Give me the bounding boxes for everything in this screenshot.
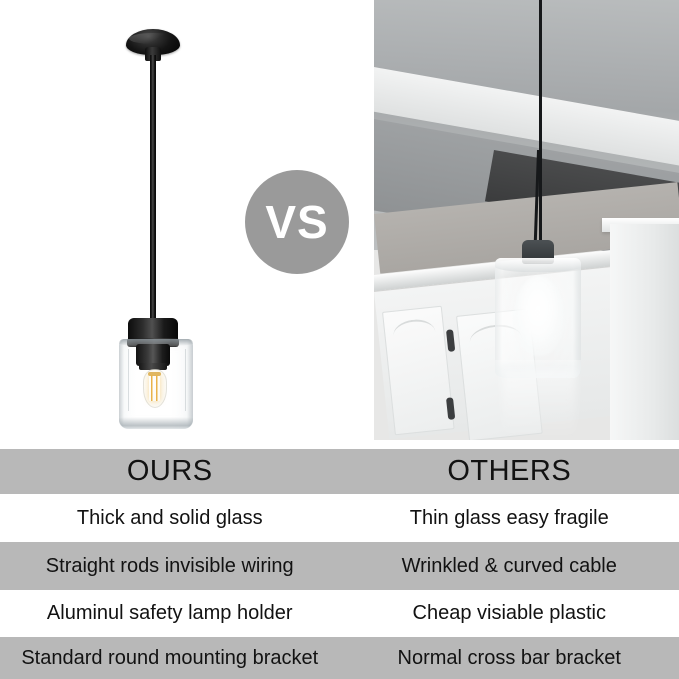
thin-glass-top-rim bbox=[495, 258, 581, 272]
table-row: Straight rods invisible wiring Wrinkled … bbox=[0, 542, 679, 590]
white-pillar bbox=[610, 224, 679, 440]
curved-cable-upper bbox=[539, 0, 542, 240]
shade-bottom-rim bbox=[119, 417, 193, 429]
others-feature-1: Thin glass easy fragile bbox=[340, 507, 679, 529]
straight-rod bbox=[150, 55, 156, 320]
photo-area: VS bbox=[0, 0, 679, 449]
ours-feature-4: Standard round mounting bracket bbox=[0, 647, 340, 669]
ours-feature-1: Thick and solid glass bbox=[0, 507, 340, 529]
table-header-row: OURS OTHERS bbox=[0, 449, 679, 494]
others-feature-4: Normal cross bar bracket bbox=[340, 647, 679, 669]
ours-feature-2: Straight rods invisible wiring bbox=[0, 555, 340, 577]
vs-badge-label: VS bbox=[265, 199, 328, 245]
others-feature-3: Cheap visiable plastic bbox=[340, 602, 679, 624]
comparison-table: OURS OTHERS Thick and solid glass Thin g… bbox=[0, 449, 679, 679]
table-row: Standard round mounting bracket Normal c… bbox=[0, 637, 679, 679]
header-ours: OURS bbox=[0, 455, 340, 487]
product-comparison-image: VS OURS OTHERS Thick and solid glass Thi… bbox=[0, 0, 679, 679]
table-row: Thick and solid glass Thin glass easy fr… bbox=[0, 494, 679, 542]
light-spill bbox=[502, 370, 576, 440]
vs-badge: VS bbox=[245, 170, 349, 274]
lit-bulb bbox=[514, 276, 564, 356]
table-row: Aluminul safety lamp holder Cheap visiab… bbox=[0, 590, 679, 637]
others-feature-2: Wrinkled & curved cable bbox=[340, 555, 679, 577]
ours-feature-3: Aluminul safety lamp holder bbox=[0, 602, 340, 624]
cabinet-door-left bbox=[382, 306, 455, 436]
header-others: OTHERS bbox=[340, 455, 679, 487]
led-filament bbox=[149, 375, 160, 401]
others-product-photo bbox=[374, 0, 679, 440]
